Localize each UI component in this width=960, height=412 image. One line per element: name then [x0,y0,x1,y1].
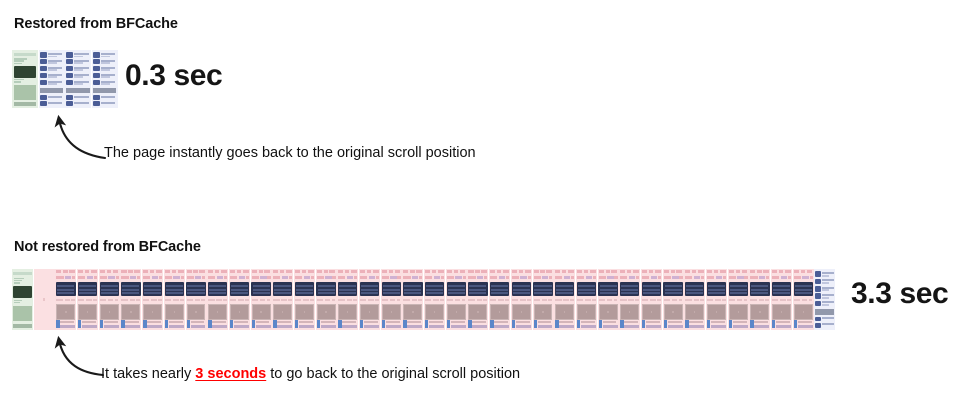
thumb-element [108,276,114,278]
thumb-element [451,325,466,328]
thumb-element [772,304,791,320]
thumb-element [611,270,617,272]
thumb-element [525,270,531,272]
thumb-element [317,299,323,301]
thumb-element [499,276,505,278]
thumb-element [534,292,551,294]
thumb-element [607,311,608,313]
thumb-element [93,101,100,106]
thumb-element [716,311,717,313]
thumb-element [264,270,270,272]
thumb-element [108,299,113,301]
thumb-element [455,276,461,278]
thumb-element [477,276,483,278]
thumb-element [273,304,292,320]
thumb-element [74,102,89,104]
thumb-element [555,282,574,296]
thumb-element [642,299,648,301]
thumb-element [48,76,57,78]
thumb-element [101,83,110,85]
thumb-element [498,299,503,301]
thumb-element [534,320,537,328]
filmstrip-frame [34,269,55,330]
thumb-element [165,320,168,328]
thumb-element [578,285,595,287]
thumb-element [456,311,457,313]
caption-highlight-3-seconds: 3 seconds [195,366,266,382]
thumb-element [505,299,509,301]
thumb-element [100,270,105,272]
thumb-element [231,289,248,291]
thumb-element [679,276,682,278]
restored-duration-label: 0.3 sec [125,59,222,93]
thumb-element [165,304,184,320]
thumb-element [520,299,525,301]
thumb-element [125,325,140,328]
thumb-element [600,285,617,287]
thumb-element [794,282,813,296]
thumb-element [624,325,639,328]
thumb-element [564,276,570,278]
filmstrip-frame [684,269,705,330]
thumb-element [772,270,777,272]
thumb-element [115,299,119,301]
thumb-element [542,311,543,313]
thumb-element [173,276,179,278]
thumb-element [259,270,263,272]
thumb-element [750,276,757,278]
thumb-element [672,311,673,313]
thumb-element [338,320,341,328]
thumb-element [100,276,107,278]
thumb-element [208,270,213,272]
thumb-element [664,270,669,272]
thumb-element [86,299,91,301]
thumb-element [66,73,73,78]
thumb-element [13,286,31,298]
thumb-element [208,282,227,296]
filmstrip-frame [554,269,575,330]
thumb-element [277,321,291,324]
filmstrip-frame [598,269,619,330]
thumb-element [416,270,422,272]
thumb-element [750,299,756,301]
thumb-element [199,270,205,272]
thumb-element [490,304,509,320]
thumb-element [794,276,801,278]
thumb-element [469,289,486,291]
thumb-element [253,292,270,294]
thumb-element [494,325,509,328]
thumb-element [711,321,725,324]
thumb-element [165,270,170,272]
thumb-element [304,276,310,278]
thumb-element [14,66,36,78]
thumb-element [503,270,509,272]
thumb-element [815,309,834,314]
thumb-element [750,270,755,272]
filmstrip-frame [142,269,163,330]
thumb-element [742,270,748,272]
thumb-element [321,321,335,324]
thumb-element [195,276,201,278]
thumb-element [729,304,748,320]
thumb-element [237,270,241,272]
thumb-element [803,311,804,313]
thumb-element [534,299,540,301]
thumb-element [321,325,336,328]
thumb-element [382,276,389,278]
thumb-element [48,96,63,98]
thumb-element [74,69,83,71]
thumb-element [425,282,444,296]
thumb-element [187,299,193,301]
thumb-element [491,285,508,287]
thumb-element [101,76,110,78]
thumb-element [763,270,769,272]
thumb-element [295,282,314,296]
thumb-element [468,320,471,328]
filmstrip-frame [77,269,98,330]
thumb-element [694,299,699,301]
filmstrip-frame [728,269,749,330]
filmstrip-frame [663,269,684,330]
thumb-element [679,299,683,301]
thumb-element [585,299,590,301]
thumb-element [646,325,661,328]
thumb-element [295,270,300,272]
thumb-element [231,285,248,287]
thumb-element [93,95,100,100]
thumb-element [425,276,432,278]
thumb-element [14,302,20,303]
thumb-element [750,282,769,296]
thumb-element [643,285,660,287]
thumb-element [230,299,236,301]
thumb-element [708,292,725,294]
thumb-element [121,304,140,320]
filmstrip-frame [793,269,814,330]
thumb-element [635,299,639,301]
filmstrip-frame [489,269,510,330]
thumb-element [382,304,401,320]
thumb-element [397,276,400,278]
thumb-element [448,292,465,294]
thumb-element [324,270,328,272]
filmstrip-frame [99,269,120,330]
thumb-element [14,102,37,106]
thumb-element [711,325,726,328]
thumb-element [288,299,292,301]
thumb-element [100,299,106,301]
thumb-element [143,282,162,296]
thumb-element [815,301,820,306]
thumb-element [685,304,704,320]
thumb-element [231,292,248,294]
filmstrip-frame [771,269,792,330]
thumb-element [289,276,292,278]
filmstrip-frame [533,269,554,330]
thumb-element [40,88,63,93]
thumb-element [714,270,718,272]
filmstrip-frame [229,269,250,330]
thumb-element [101,289,118,291]
thumb-element [556,289,573,291]
thumb-element [395,270,401,272]
thumb-element [542,276,548,278]
thumb-element [528,276,531,278]
thumb-element [781,276,787,278]
thumb-element [658,276,661,278]
thumb-element [599,270,604,272]
thumb-element [516,325,531,328]
thumb-element [273,282,292,296]
thumb-element [807,270,813,272]
filmstrip-frame [272,269,293,330]
thumb-element [722,299,726,301]
thumb-element [317,304,336,320]
thumb-element [798,321,812,324]
thumb-element [469,292,486,294]
thumb-element [286,270,292,272]
thumb-element [273,320,276,328]
thumb-element [600,289,617,291]
thumb-element [260,299,265,301]
thumb-element [598,282,617,296]
thumb-element [48,69,57,71]
thumb-element [101,69,110,71]
thumb-element [685,320,688,328]
thumb-element [621,289,638,291]
thumb-element [772,320,775,328]
thumb-element [404,285,421,287]
thumb-element [234,321,248,324]
filmstrip-frame [446,269,467,330]
thumb-element [208,276,215,278]
thumb-element [166,289,183,291]
thumb-element [621,292,638,294]
thumb-element [87,276,93,278]
thumb-element [368,299,373,301]
thumb-element [252,299,258,301]
thumb-element [121,276,128,278]
thumb-element [642,320,645,328]
thumb-element [82,325,97,328]
thumb-element [490,299,496,301]
thumb-element [527,299,531,301]
thumb-element [256,325,271,328]
thumb-element [216,299,221,301]
filmstrip-frame [39,50,65,108]
thumb-element [101,285,118,287]
thumb-element [549,276,552,278]
thumb-element [60,325,75,328]
thumb-element [339,285,356,287]
thumb-element [603,325,618,328]
thumb-element [273,270,278,272]
thumb-element [454,270,458,272]
thumb-element [490,270,495,272]
thumb-element [455,299,460,301]
thumb-element [472,321,486,324]
thumb-element [412,311,413,313]
thumb-element [592,299,596,301]
thumb-element [347,311,348,313]
thumb-element [779,270,783,272]
thumb-element [186,282,205,296]
caption-prefix: It takes nearly [101,366,195,382]
thumb-element [668,321,682,324]
thumb-element [708,285,725,287]
thumb-element [215,270,219,272]
filmstrip-frame [207,269,228,330]
thumb-element [534,285,551,287]
thumb-element [239,276,245,278]
thumb-element [14,282,20,283]
thumb-element [308,270,314,272]
thumb-element [563,299,568,301]
thumb-element [729,320,732,328]
thumb-element [40,66,47,71]
thumb-element [230,320,233,328]
thumb-element [71,299,75,301]
thumb-element [810,276,813,278]
thumb-element [707,304,726,320]
thumb-element [134,270,140,272]
thumb-element [354,276,357,278]
thumb-element [599,276,606,278]
thumb-element [48,62,57,64]
thumb-element [513,285,530,287]
thumb-element [665,289,682,291]
thumb-element [376,276,379,278]
thumb-element [63,270,67,272]
thumb-element [650,299,655,301]
thumb-element [234,325,249,328]
thumb-element [66,66,73,71]
thumb-element [318,285,335,287]
thumb-element [243,270,249,272]
thumb-element [360,320,363,328]
thumb-element [686,285,703,287]
thumb-element [512,270,517,272]
thumb-element [744,276,747,278]
thumb-element [555,276,562,278]
thumb-element [121,299,127,301]
thumb-element [158,299,162,301]
thumb-element [794,304,813,320]
thumb-element [729,276,736,278]
thumb-element [494,321,508,324]
thumb-element [765,299,769,301]
thumb-element [69,270,75,272]
thumb-element [599,320,602,328]
thumb-element [556,292,573,294]
thumb-element [121,282,140,296]
thumb-element [657,299,661,301]
slide-canvas: Restored from BFCache 0.3 sec The page i… [0,0,960,412]
thumb-element [497,270,501,272]
thumb-element [91,270,97,272]
thumb-element [208,299,214,301]
thumb-element [802,276,808,278]
thumb-element [212,325,227,328]
thumb-element [360,270,365,272]
thumb-element [390,299,395,301]
thumb-element [303,299,308,301]
thumb-element [698,270,704,272]
thumb-element [130,276,136,278]
thumb-element [512,282,531,296]
thumb-element [481,270,487,272]
thumb-element [40,52,47,57]
thumb-element [40,101,47,106]
not-restored-filmstrip [12,269,835,330]
thumb-element [361,285,378,287]
thumb-element [329,270,335,272]
section-title-restored: Restored from BFCache [14,16,178,32]
thumb-element [555,304,574,320]
thumb-element [187,292,204,294]
thumb-element [490,320,493,328]
thumb-element [600,292,617,294]
thumb-element [74,62,83,64]
thumb-element [14,63,22,64]
thumb-element [672,276,678,278]
thumb-element [538,325,553,328]
thumb-element [512,299,518,301]
thumb-element [512,276,519,278]
thumb-element [426,285,443,287]
thumb-element [382,282,401,296]
thumb-element [217,311,218,313]
thumb-element [534,276,541,278]
thumb-element [79,289,96,291]
filmstrip-frame [402,269,423,330]
thumb-element [390,276,396,278]
thumb-element [685,299,691,301]
thumb-element [295,276,302,278]
thumb-element [822,294,834,296]
thumb-element [282,311,283,313]
thumb-element [230,282,249,296]
thumb-element [664,276,671,278]
thumb-element [512,320,515,328]
thumb-element [548,299,552,301]
thumb-element [798,325,813,328]
filmstrip-frame [749,269,770,330]
thumb-element [125,321,139,324]
thumb-element [93,66,100,71]
thumb-element [521,311,522,313]
thumb-element [720,270,726,272]
thumb-element [570,299,574,301]
thumb-element [60,321,74,324]
thumb-element [382,270,387,272]
thumb-element [664,299,670,301]
thumb-element [342,321,356,324]
thumb-element [295,299,301,301]
thumb-element [94,276,97,278]
filmstrip-frame [337,269,358,330]
thumb-element [107,270,111,272]
thumb-element [239,311,240,313]
thumb-element [252,270,257,272]
thumb-element [209,292,226,294]
thumb-element [66,88,89,93]
thumb-element [468,304,487,320]
thumb-element [642,304,661,320]
